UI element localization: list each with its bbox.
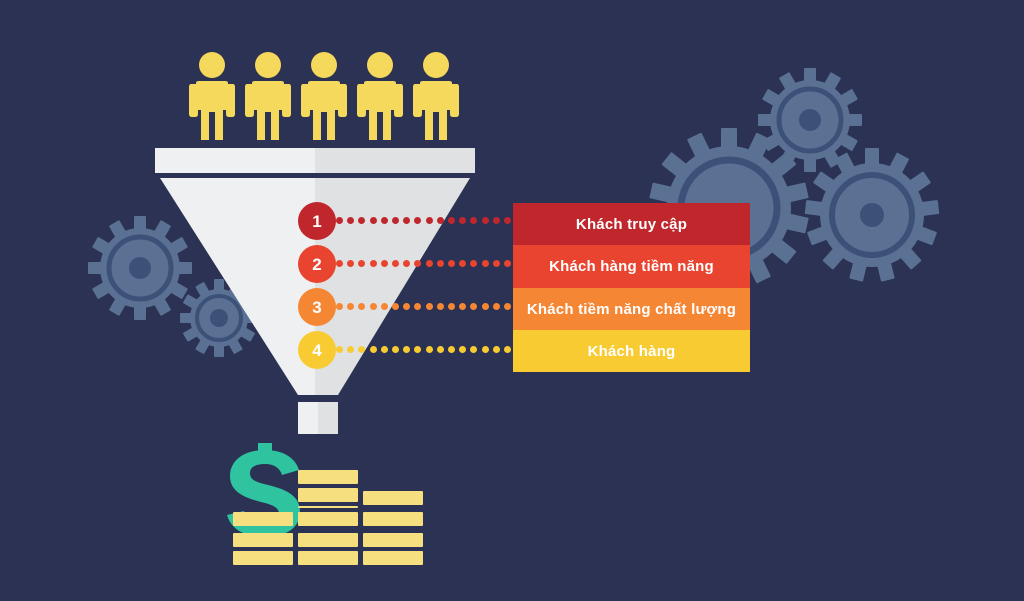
connector-dot	[336, 217, 343, 224]
connector-dot	[336, 303, 343, 310]
stage-label-2: Khách hàng tiềm năng	[549, 258, 714, 275]
connector-dot	[347, 346, 354, 353]
step-number-2: 2	[312, 256, 321, 273]
connector-dots-1	[336, 217, 512, 225]
connector-dot	[347, 260, 354, 267]
connector-dot	[437, 346, 444, 353]
connector-dot	[459, 346, 466, 353]
connector-dot	[358, 303, 365, 310]
connector-dot	[426, 217, 433, 224]
connector-dot	[426, 303, 433, 310]
connector-dot	[403, 217, 410, 224]
connector-dot	[482, 303, 489, 310]
connector-dot	[336, 260, 343, 267]
connector-dot	[493, 217, 500, 224]
connector-dot	[504, 260, 511, 267]
connector-dot	[448, 217, 455, 224]
connector-dot	[392, 346, 399, 353]
connector-dot	[504, 303, 511, 310]
connector-dot	[470, 303, 477, 310]
connector-dot	[426, 346, 433, 353]
connector-dot	[392, 303, 399, 310]
stage-bar-1[interactable]: Khách truy cập	[513, 203, 750, 245]
stage-label-3: Khách tiềm năng chất lượng	[527, 301, 736, 318]
step-circle-1[interactable]: 1	[298, 202, 336, 240]
connector-dot	[381, 346, 388, 353]
connector-dot	[347, 217, 354, 224]
connector-dot	[448, 346, 455, 353]
connector-dot	[358, 346, 365, 353]
connector-dot-layer	[0, 0, 1024, 601]
stage-label-1: Khách truy cập	[576, 216, 687, 233]
connector-dot	[426, 260, 433, 267]
connector-dot	[437, 303, 444, 310]
connector-dot	[381, 260, 388, 267]
connector-dots-3	[336, 303, 512, 311]
step-number-4: 4	[312, 342, 321, 359]
step-circle-4[interactable]: 4	[298, 331, 336, 369]
connector-dot	[403, 260, 410, 267]
connector-dot	[470, 346, 477, 353]
connector-dot	[414, 303, 421, 310]
connector-dot	[403, 303, 410, 310]
stage-bar-3[interactable]: Khách tiềm năng chất lượng	[513, 288, 750, 330]
step-circle-2[interactable]: 2	[298, 245, 336, 283]
connector-dot	[459, 303, 466, 310]
connector-dot	[459, 217, 466, 224]
connector-dot	[370, 346, 377, 353]
connector-dot	[370, 260, 377, 267]
connector-dot	[358, 260, 365, 267]
connector-dot	[403, 346, 410, 353]
connector-dot	[493, 346, 500, 353]
connector-dot	[437, 217, 444, 224]
connector-dots-2	[336, 260, 512, 268]
connector-dot	[381, 217, 388, 224]
stage-bar-2[interactable]: Khách hàng tiềm năng	[513, 245, 750, 288]
infographic-canvas: 1 2 3 4 Khách truy cập Khách hàng tiềm n…	[0, 0, 1024, 601]
connector-dot	[347, 303, 354, 310]
connector-dot	[504, 346, 511, 353]
connector-dot	[370, 217, 377, 224]
connector-dot	[414, 346, 421, 353]
connector-dot	[392, 260, 399, 267]
connector-dots-4	[336, 346, 512, 354]
connector-dot	[482, 217, 489, 224]
step-number-3: 3	[312, 299, 321, 316]
stage-label-4: Khách hàng	[588, 343, 676, 360]
connector-dot	[482, 346, 489, 353]
step-number-1: 1	[312, 213, 321, 230]
connector-dot	[414, 260, 421, 267]
connector-dot	[370, 303, 377, 310]
connector-dot	[493, 303, 500, 310]
connector-dot	[358, 217, 365, 224]
connector-dot	[470, 260, 477, 267]
connector-dot	[336, 346, 343, 353]
connector-dot	[392, 217, 399, 224]
connector-dot	[381, 303, 388, 310]
connector-dot	[470, 217, 477, 224]
connector-dot	[414, 217, 421, 224]
connector-dot	[448, 303, 455, 310]
connector-dot	[504, 217, 511, 224]
step-circle-3[interactable]: 3	[298, 288, 336, 326]
stage-bar-4[interactable]: Khách hàng	[513, 330, 750, 372]
connector-dot	[437, 260, 444, 267]
connector-dot	[493, 260, 500, 267]
connector-dot	[482, 260, 489, 267]
connector-dot	[459, 260, 466, 267]
connector-dot	[448, 260, 455, 267]
